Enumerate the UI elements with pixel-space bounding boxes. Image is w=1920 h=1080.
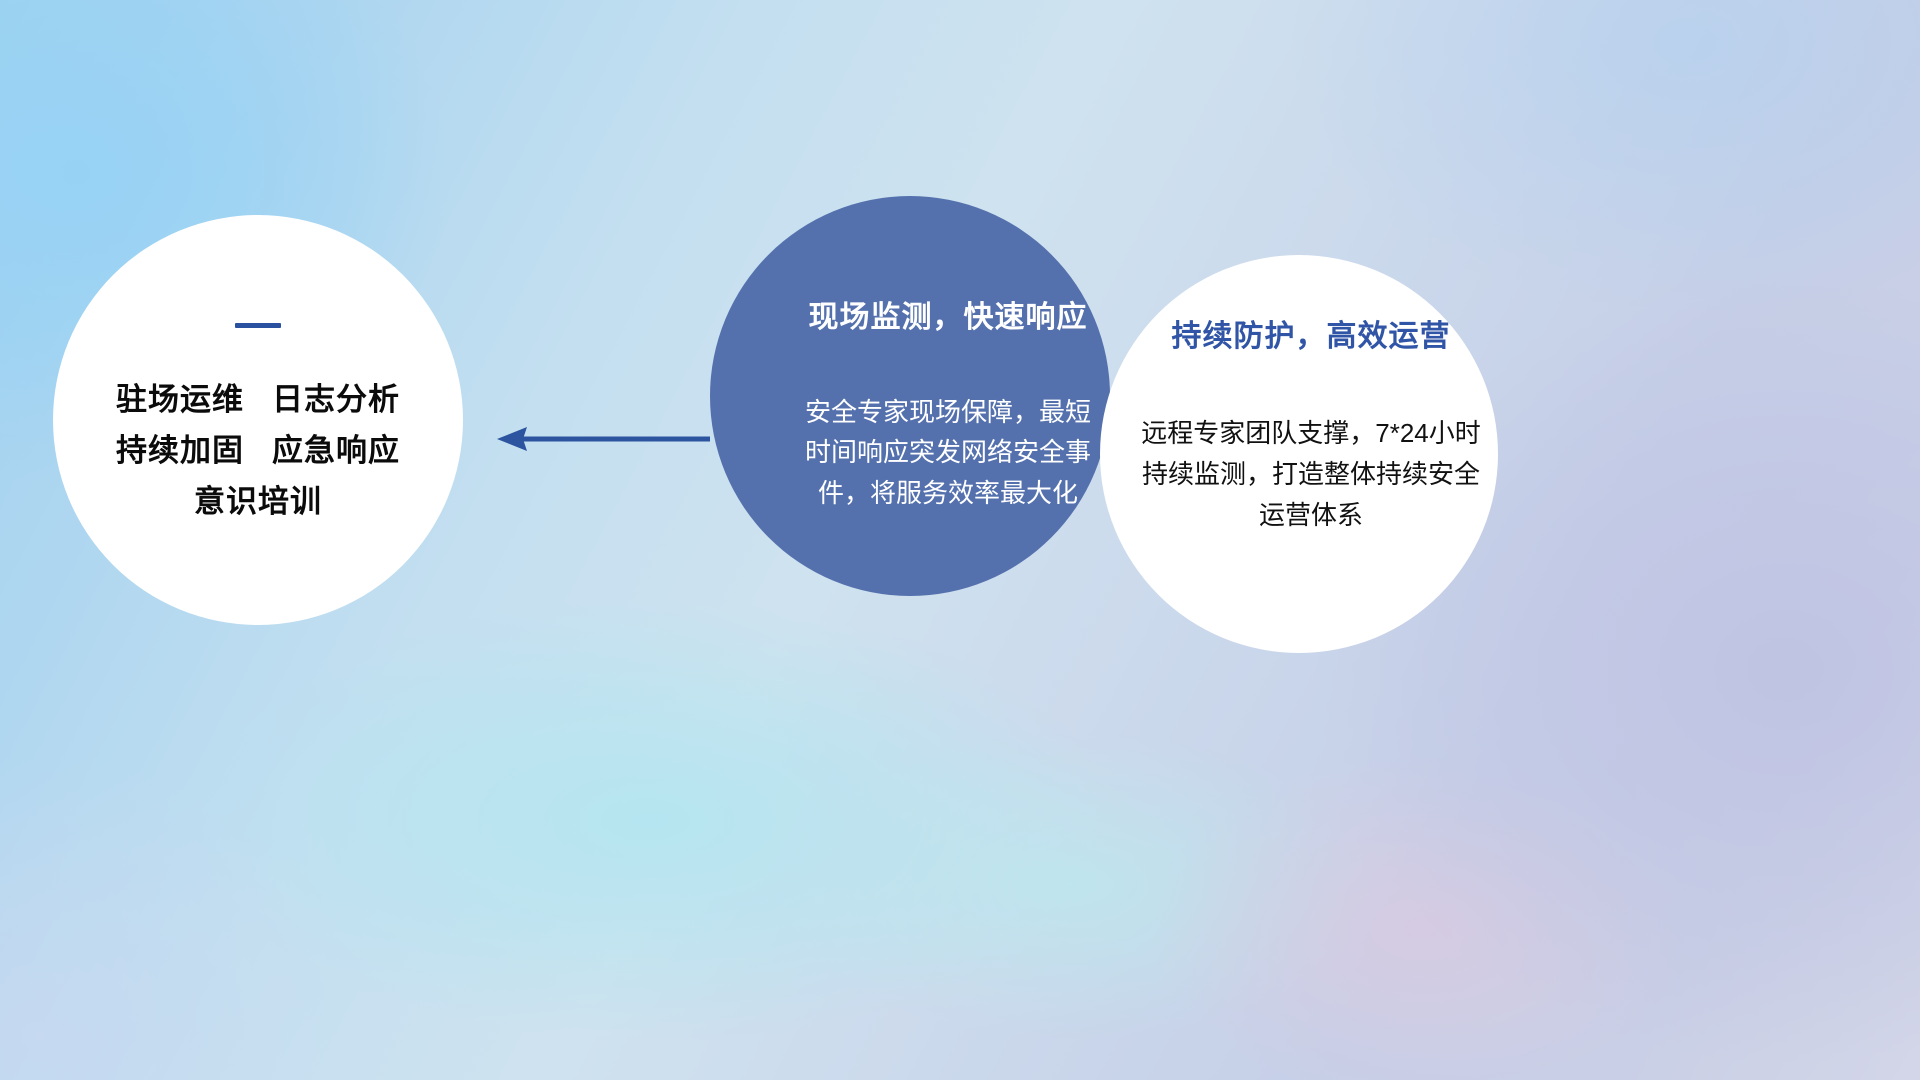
flow-arrow-left bbox=[495, 415, 710, 463]
dash-divider-icon bbox=[235, 323, 281, 328]
right-circle-title: 持续防护，高效运营 bbox=[1172, 311, 1451, 355]
keyword-row: 持续加固 应急响应 bbox=[116, 431, 400, 472]
keyword-item: 驻场运维 bbox=[116, 380, 244, 421]
mid-circle-content: 现场监测，快速响应 安全专家现场保障，最短时间响应突发网络安全事件，将服务效率最… bbox=[710, 196, 1110, 596]
keyword-item: 应急响应 bbox=[272, 431, 400, 472]
mid-circle-title: 现场监测，快速响应 bbox=[809, 292, 1088, 336]
keyword-item: 持续加固 bbox=[116, 431, 244, 472]
mid-blue-circle[interactable]: 现场监测，快速响应 安全专家现场保障，最短时间响应突发网络安全事件，将服务效率最… bbox=[710, 196, 1110, 596]
right-circle-content: 持续防护，高效运营 远程专家团队支撑，7*24小时持续监测，打造整体持续安全运营… bbox=[1100, 255, 1498, 653]
arrow-head-icon bbox=[497, 427, 527, 451]
keyword-item: 日志分析 bbox=[272, 380, 400, 421]
keyword-row: 驻场运维 日志分析 bbox=[116, 380, 400, 421]
slide-canvas: 现场监测，快速响应 安全专家现场保障，最短时间响应突发网络安全事件，将服务效率最… bbox=[0, 0, 1920, 1080]
keyword-item: 意识培训 bbox=[194, 482, 322, 523]
right-circle-body: 远程专家团队支撑，7*24小时持续监测，打造整体持续安全运营体系 bbox=[1141, 413, 1481, 536]
right-white-circle[interactable]: 持续防护，高效运营 远程专家团队支撑，7*24小时持续监测，打造整体持续安全运营… bbox=[1100, 255, 1498, 653]
keyword-row: 意识培训 bbox=[194, 482, 322, 523]
left-circle-content: 驻场运维 日志分析 持续加固 应急响应 意识培训 bbox=[53, 215, 463, 625]
left-white-circle[interactable]: 驻场运维 日志分析 持续加固 应急响应 意识培训 bbox=[53, 215, 463, 625]
left-circle-keyword-list: 驻场运维 日志分析 持续加固 应急响应 意识培训 bbox=[116, 380, 400, 523]
mid-circle-body: 安全专家现场保障，最短时间响应突发网络安全事件，将服务效率最大化 bbox=[798, 392, 1098, 513]
